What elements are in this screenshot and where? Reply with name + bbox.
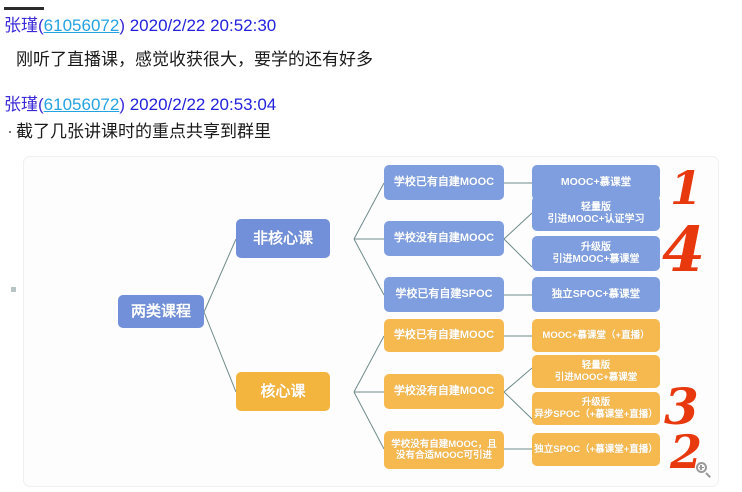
message-body-2: 截了几张讲课时的重点共享到群里 <box>16 122 271 142</box>
sender-nickname-1[interactable]: 张瑾 <box>4 16 38 35</box>
result-core-3-1[interactable]: 独立SPOC（+慕课堂+直播） <box>532 433 660 466</box>
result-noncore-1-1[interactable]: MOOC+慕课堂 <box>532 165 660 200</box>
result-core-1-1[interactable]: MOOC+慕课堂（+直播） <box>532 319 660 352</box>
magnifier-plus-vertical <box>700 465 701 470</box>
result-core-2-1-line1: 轻量版 <box>582 360 611 371</box>
sender-uid-2[interactable]: 61056072 <box>44 95 120 114</box>
sender-uid-1[interactable]: 61056072 <box>44 16 120 35</box>
message-header-2: 张瑾(61056072) 2020/2/22 20:53:04 <box>4 95 276 115</box>
node-noncore-child-1[interactable]: 学校已有自建MOOC <box>384 165 504 200</box>
node-core-child-3-line2: 没有合适MOOC可引进 <box>396 450 492 461</box>
node-root[interactable]: 两类课程 <box>118 295 204 328</box>
result-noncore-3-1[interactable]: 独立SPOC+慕课堂 <box>532 277 660 312</box>
sender-nickname-2[interactable]: 张瑾 <box>4 95 38 114</box>
uid-close-paren-2: ) <box>119 95 125 114</box>
result-core-2-2-line1: 升级版 <box>582 397 611 408</box>
node-noncore-child-2[interactable]: 学校没有自建MOOC <box>384 221 504 256</box>
annotation-mark-1: 1 <box>670 165 702 211</box>
message-body-1: 刚听了直播课，感觉收获很大，要学的还有好多 <box>16 50 373 70</box>
chat-message-pane: 张瑾(61056072) 2020/2/22 20:52:30 刚听了直播课，感… <box>0 0 742 155</box>
zoom-in-icon[interactable] <box>696 462 712 478</box>
result-noncore-2-1-line2: 引进MOOC+认证学习 <box>548 214 645 226</box>
node-core-child-1[interactable]: 学校已有自建MOOC <box>384 319 504 352</box>
result-noncore-2-1[interactable]: 轻量版 引进MOOC+认证学习 <box>532 196 660 231</box>
node-branch-non-core[interactable]: 非核心课 <box>236 219 330 258</box>
message-bullet-dot <box>9 131 11 133</box>
result-core-2-2-line2: 异步SPOC（+慕课堂+直播） <box>534 409 658 420</box>
shared-image-mindmap[interactable]: 两类课程 非核心课 核心课 学校已有自建MOOC 学校没有自建MOOC 学校已有… <box>24 157 718 486</box>
node-core-child-3[interactable]: 学校没有自建MOOC，且 没有合适MOOC可引进 <box>384 431 504 469</box>
message-timestamp-2: 2020/2/22 20:53:04 <box>130 95 277 114</box>
result-noncore-2-2[interactable]: 升级版 引进MOOC+慕课堂 <box>532 236 660 271</box>
result-core-2-2[interactable]: 升级版 异步SPOC（+慕课堂+直播） <box>532 392 660 425</box>
node-branch-core[interactable]: 核心课 <box>236 372 330 411</box>
result-core-2-1[interactable]: 轻量版 引进MOOC+慕课堂 <box>532 355 660 388</box>
top-divider-line <box>4 7 44 10</box>
message-timestamp-1: 2020/2/22 20:52:30 <box>130 16 277 35</box>
result-noncore-2-2-line2: 引进MOOC+慕课堂 <box>553 254 640 266</box>
result-noncore-2-1-line1: 轻量版 <box>581 202 611 214</box>
message-header-1: 张瑾(61056072) 2020/2/22 20:52:30 <box>4 16 276 36</box>
message-side-marker <box>11 287 16 292</box>
node-core-child-2[interactable]: 学校没有自建MOOC <box>384 374 504 409</box>
node-core-child-3-line1: 学校没有自建MOOC，且 <box>391 439 497 450</box>
node-noncore-child-3[interactable]: 学校已有自建SPOC <box>384 277 504 312</box>
result-core-2-1-line2: 引进MOOC+慕课堂 <box>555 372 638 383</box>
result-noncore-2-2-line1: 升级版 <box>581 242 611 254</box>
uid-close-paren-1: ) <box>119 16 125 35</box>
annotation-mark-4: 4 <box>662 219 705 281</box>
magnifier-handle <box>705 472 711 478</box>
